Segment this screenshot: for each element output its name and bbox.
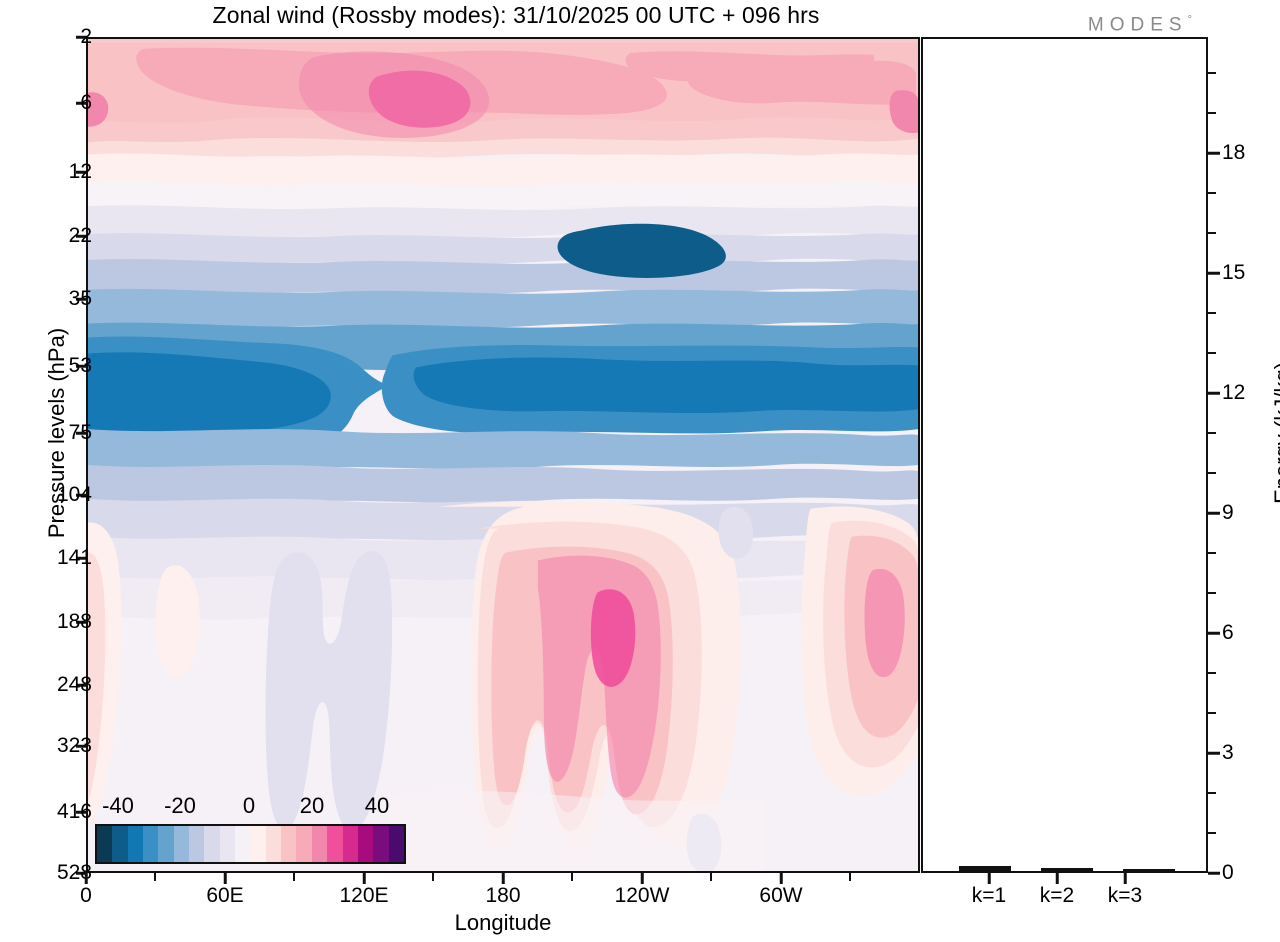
- energy-bar-panel: [921, 37, 1208, 873]
- colorbar-gradient: [95, 824, 406, 864]
- colorbar-swatch-3: [143, 826, 158, 862]
- right-tick-mark-minor: [1208, 312, 1216, 314]
- right-tick-label-5: 15: [1222, 261, 1245, 285]
- right-tick-mark-minor: [1208, 592, 1216, 594]
- x-tick-mark-minor: [710, 873, 712, 881]
- colorbar-swatch-0: [97, 826, 112, 862]
- x-tick-mark-minor: [849, 873, 851, 881]
- colorbar: [95, 824, 406, 864]
- k-axis-label-3: k=3: [1108, 884, 1142, 908]
- right-tick-mark: [1208, 392, 1220, 395]
- colorbar-tick-label-4: 40: [365, 793, 389, 819]
- energy-bar-k3: [1123, 869, 1175, 871]
- x-tick-label-3: 180: [485, 884, 520, 908]
- x-tick-label-0: 0: [80, 884, 92, 908]
- right-tick-mark-minor: [1208, 232, 1216, 234]
- right-tick-mark-minor: [1208, 712, 1216, 714]
- x-tick-mark: [224, 873, 227, 884]
- right-tick-mark: [1208, 752, 1220, 755]
- x-tick-mark-minor: [432, 873, 434, 881]
- energy-bar-k1: [959, 866, 1011, 871]
- x-axis-label: Longitude: [86, 910, 920, 936]
- right-tick-mark-minor: [1208, 552, 1216, 554]
- colorbar-swatch-11: [266, 826, 281, 862]
- right-tick-mark: [1208, 872, 1220, 875]
- modes-watermark: MODES°: [1088, 14, 1192, 36]
- page-title: Zonal wind (Rossby modes): 31/10/2025 00…: [86, 2, 946, 29]
- y-tick-label-12: 416: [57, 800, 92, 824]
- x-tick-mark-minor: [293, 873, 295, 881]
- right-tick-mark-minor: [1208, 352, 1216, 354]
- y-tick-label-11: 323: [57, 734, 92, 758]
- right-tick-label-6: 18: [1222, 141, 1245, 165]
- right-tick-mark: [1208, 152, 1220, 155]
- colorbar-swatch-6: [189, 826, 204, 862]
- right-axis-label: Energy (kJ/kg): [1270, 283, 1280, 583]
- x-tick-label-1: 60E: [206, 884, 243, 908]
- colorbar-swatch-13: [296, 826, 311, 862]
- x-tick-mark: [363, 873, 366, 884]
- colorbar-swatch-2: [128, 826, 143, 862]
- right-tick-mark-minor: [1208, 192, 1216, 194]
- right-tick-label-0: 0: [1222, 861, 1234, 885]
- right-tick-label-2: 6: [1222, 621, 1234, 645]
- colorbar-swatch-12: [281, 826, 296, 862]
- x-tick-mark-minor: [571, 873, 573, 881]
- x-tick-label-4: 120W: [615, 884, 670, 908]
- x-tick-mark: [641, 873, 644, 884]
- right-tick-mark-minor: [1208, 72, 1216, 74]
- x-tick-label-5: 60W: [759, 884, 802, 908]
- x-tick-mark: [502, 873, 505, 884]
- contour-plot-panel: [86, 37, 920, 873]
- right-tick-label-4: 12: [1222, 381, 1245, 405]
- right-tick-mark-minor: [1208, 792, 1216, 794]
- zonal-wind-contour-field: [88, 39, 918, 871]
- modes-watermark-text: MODES: [1088, 14, 1188, 35]
- k-tick-mark-2: [1056, 873, 1059, 884]
- energy-bar-k2: [1041, 868, 1093, 871]
- k-axis-label-1: k=1: [972, 884, 1006, 908]
- colorbar-swatch-9: [235, 826, 250, 862]
- colorbar-swatch-15: [327, 826, 342, 862]
- y-tick-label-2: 12: [69, 160, 92, 184]
- colorbar-tick-label-1: -20: [164, 793, 196, 819]
- right-tick-mark-minor: [1208, 472, 1216, 474]
- y-axis-label: Pressure levels (hPa): [44, 283, 70, 583]
- colorbar-swatch-7: [204, 826, 219, 862]
- y-tick-label-5: 53: [69, 354, 92, 378]
- y-tick-label-1: 6: [80, 91, 92, 115]
- right-tick-mark-minor: [1208, 112, 1216, 114]
- x-tick-mark: [780, 873, 783, 884]
- k-tick-mark-3: [1124, 873, 1127, 884]
- x-tick-mark-minor: [154, 873, 156, 881]
- colorbar-swatch-19: [389, 826, 404, 862]
- colorbar-swatch-14: [312, 826, 327, 862]
- y-tick-label-4: 35: [69, 287, 92, 311]
- right-tick-mark-minor: [1208, 832, 1216, 834]
- y-tick-label-6: 75: [69, 421, 92, 445]
- right-tick-mark-minor: [1208, 672, 1216, 674]
- right-tick-label-3: 9: [1222, 501, 1234, 525]
- colorbar-swatch-17: [358, 826, 373, 862]
- right-tick-mark: [1208, 272, 1220, 275]
- colorbar-swatch-8: [220, 826, 235, 862]
- colorbar-tick-label-0: -40: [102, 793, 134, 819]
- x-tick-label-2: 120E: [339, 884, 388, 908]
- right-tick-mark-minor: [1208, 432, 1216, 434]
- colorbar-swatch-4: [158, 826, 173, 862]
- right-tick-label-1: 3: [1222, 741, 1234, 765]
- modes-watermark-degree: °: [1188, 14, 1192, 26]
- x-tick-mark: [85, 873, 88, 884]
- y-tick-label-9: 188: [57, 610, 92, 634]
- colorbar-swatch-18: [373, 826, 388, 862]
- colorbar-swatch-1: [112, 826, 127, 862]
- k-tick-mark-1: [988, 873, 991, 884]
- y-tick-label-10: 248: [57, 673, 92, 697]
- y-tick-label-0: 2: [80, 25, 92, 49]
- colorbar-tick-label-3: 20: [300, 793, 324, 819]
- y-tick-label-3: 22: [69, 224, 92, 248]
- colorbar-swatch-10: [250, 826, 265, 862]
- colorbar-swatch-16: [343, 826, 358, 862]
- k-axis-label-2: k=2: [1040, 884, 1074, 908]
- colorbar-swatch-5: [174, 826, 189, 862]
- colorbar-tick-label-2: 0: [243, 793, 255, 819]
- right-tick-mark: [1208, 512, 1220, 515]
- right-tick-mark: [1208, 632, 1220, 635]
